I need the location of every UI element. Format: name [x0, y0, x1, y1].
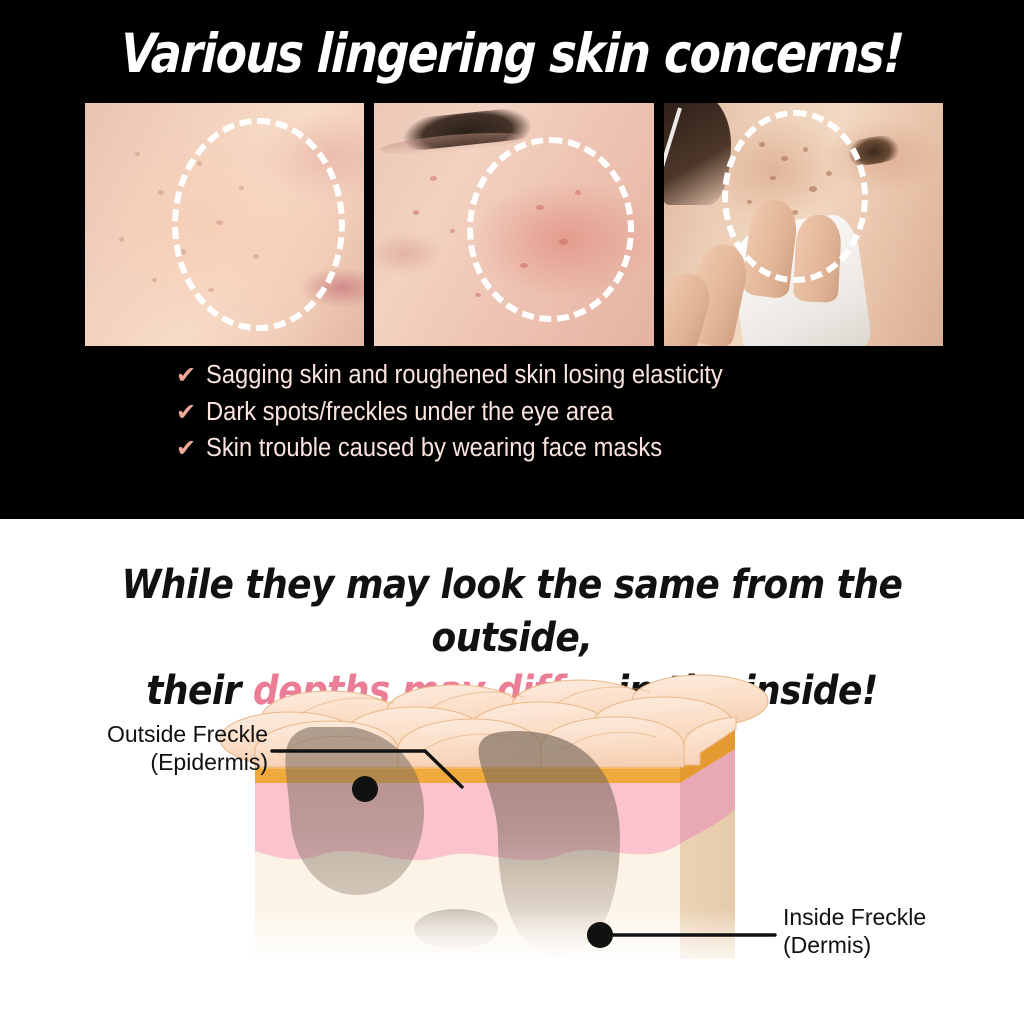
- list-item: ✔ Skin trouble caused by wearing face ma…: [176, 435, 936, 463]
- concerns-list: ✔ Sagging skin and roughened skin losing…: [176, 362, 936, 472]
- label-outside-freckle-line1: Outside Freckle: [0, 721, 268, 749]
- skin-cross-section-diagram: Outside Freckle (Epidermis) Inside Freck…: [0, 659, 1024, 1024]
- infographic-page: Various lingering skin concerns!: [0, 0, 1024, 1024]
- label-inside-freckle: Inside Freckle (Dermis): [783, 904, 926, 959]
- photo-mask-freckles: [664, 103, 943, 346]
- skin-concerns-section: Various lingering skin concerns!: [0, 0, 1024, 519]
- check-icon: ✔: [176, 436, 206, 460]
- label-inside-freckle-line1: Inside Freckle: [783, 904, 926, 932]
- list-item-label: Skin trouble caused by wearing face mask…: [206, 435, 662, 463]
- section-title-line1: While they may look the same from the ou…: [51, 559, 973, 665]
- label-outside-freckle: Outside Freckle (Epidermis): [0, 721, 268, 776]
- label-inside-freckle-line2: (Dermis): [783, 932, 926, 960]
- list-item-label: Dark spots/freckles under the eye area: [206, 399, 613, 427]
- highlight-circle-2: [467, 137, 635, 322]
- check-icon: ✔: [176, 400, 206, 424]
- bottom-fade: [248, 809, 743, 969]
- page-title: Various lingering skin concerns!: [81, 24, 944, 83]
- photo-eye-redness: [374, 103, 653, 346]
- leader-dot-inside: [587, 922, 613, 948]
- label-outside-freckle-line2: (Epidermis): [0, 749, 268, 777]
- list-item: ✔ Dark spots/freckles under the eye area: [176, 399, 936, 427]
- list-item-label: Sagging skin and roughened skin losing e…: [206, 362, 723, 390]
- check-icon: ✔: [176, 363, 206, 387]
- leader-dot-outside: [352, 776, 378, 802]
- depth-explainer-section: While they may look the same from the ou…: [0, 519, 1024, 1024]
- highlight-circle-3: [722, 110, 867, 283]
- photo-cheek-texture: [85, 103, 364, 346]
- list-item: ✔ Sagging skin and roughened skin losing…: [176, 362, 936, 390]
- highlight-circle-1: [172, 118, 345, 332]
- photo-strip: [85, 103, 943, 346]
